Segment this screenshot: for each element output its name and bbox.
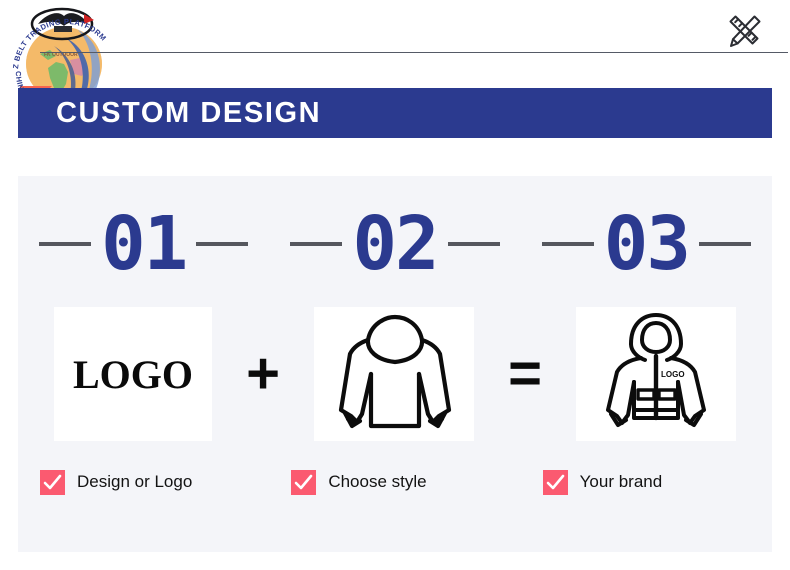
plus-operator-icon: +: [246, 345, 280, 403]
page-title: CUSTOM DESIGN: [18, 97, 321, 130]
caption-cell-3[interactable]: Your brand: [521, 462, 772, 502]
step-graphics-row: LOGO + =: [18, 304, 772, 444]
header-divider: [40, 52, 788, 53]
dash-right-icon: [448, 242, 500, 246]
dash-left-icon: [39, 242, 91, 246]
logo-placeholder-box: LOGO: [54, 307, 212, 441]
step-number-cell-2: 02: [269, 202, 520, 286]
page-header: Z BELT TRADING PLATFORM CHINA-AFRICA FK …: [0, 0, 790, 60]
step-number-cell-1: 01: [18, 202, 269, 286]
caption-label-3: Your brand: [580, 472, 663, 492]
steps-panel: 01 02 03 LOGO +: [18, 176, 772, 552]
custom-design-page: Z BELT TRADING PLATFORM CHINA-AFRICA FK …: [0, 0, 790, 570]
dash-left-icon: [542, 242, 594, 246]
dash-right-icon: [699, 242, 751, 246]
dash-left-icon: [290, 242, 342, 246]
caption-label-1: Design or Logo: [77, 472, 192, 492]
step-number-01: 01: [101, 209, 186, 279]
pencil-ruler-icon[interactable]: [722, 8, 768, 54]
dash-right-icon: [196, 242, 248, 246]
step-captions-row: Design or Logo Choose style Your brand: [18, 462, 772, 502]
step-numbers-row: 01 02 03: [18, 202, 772, 286]
step-number-cell-3: 03: [521, 202, 772, 286]
branded-jacket-box: LOGO: [576, 307, 736, 441]
hoodie-back-outline-box: [314, 307, 474, 441]
caption-cell-2[interactable]: Choose style: [269, 462, 520, 502]
equals-operator-icon: =: [508, 345, 542, 403]
checkmark-icon[interactable]: [40, 470, 65, 495]
custom-design-banner: CUSTOM DESIGN: [18, 88, 772, 138]
checkmark-icon[interactable]: [291, 470, 316, 495]
step-number-03: 03: [604, 209, 689, 279]
caption-cell-1[interactable]: Design or Logo: [18, 462, 269, 502]
jacket-logo-text: LOGO: [661, 370, 685, 379]
checkmark-icon[interactable]: [543, 470, 568, 495]
logo-placeholder-text: LOGO: [73, 351, 193, 398]
caption-label-2: Choose style: [328, 472, 426, 492]
step-number-02: 02: [352, 209, 437, 279]
